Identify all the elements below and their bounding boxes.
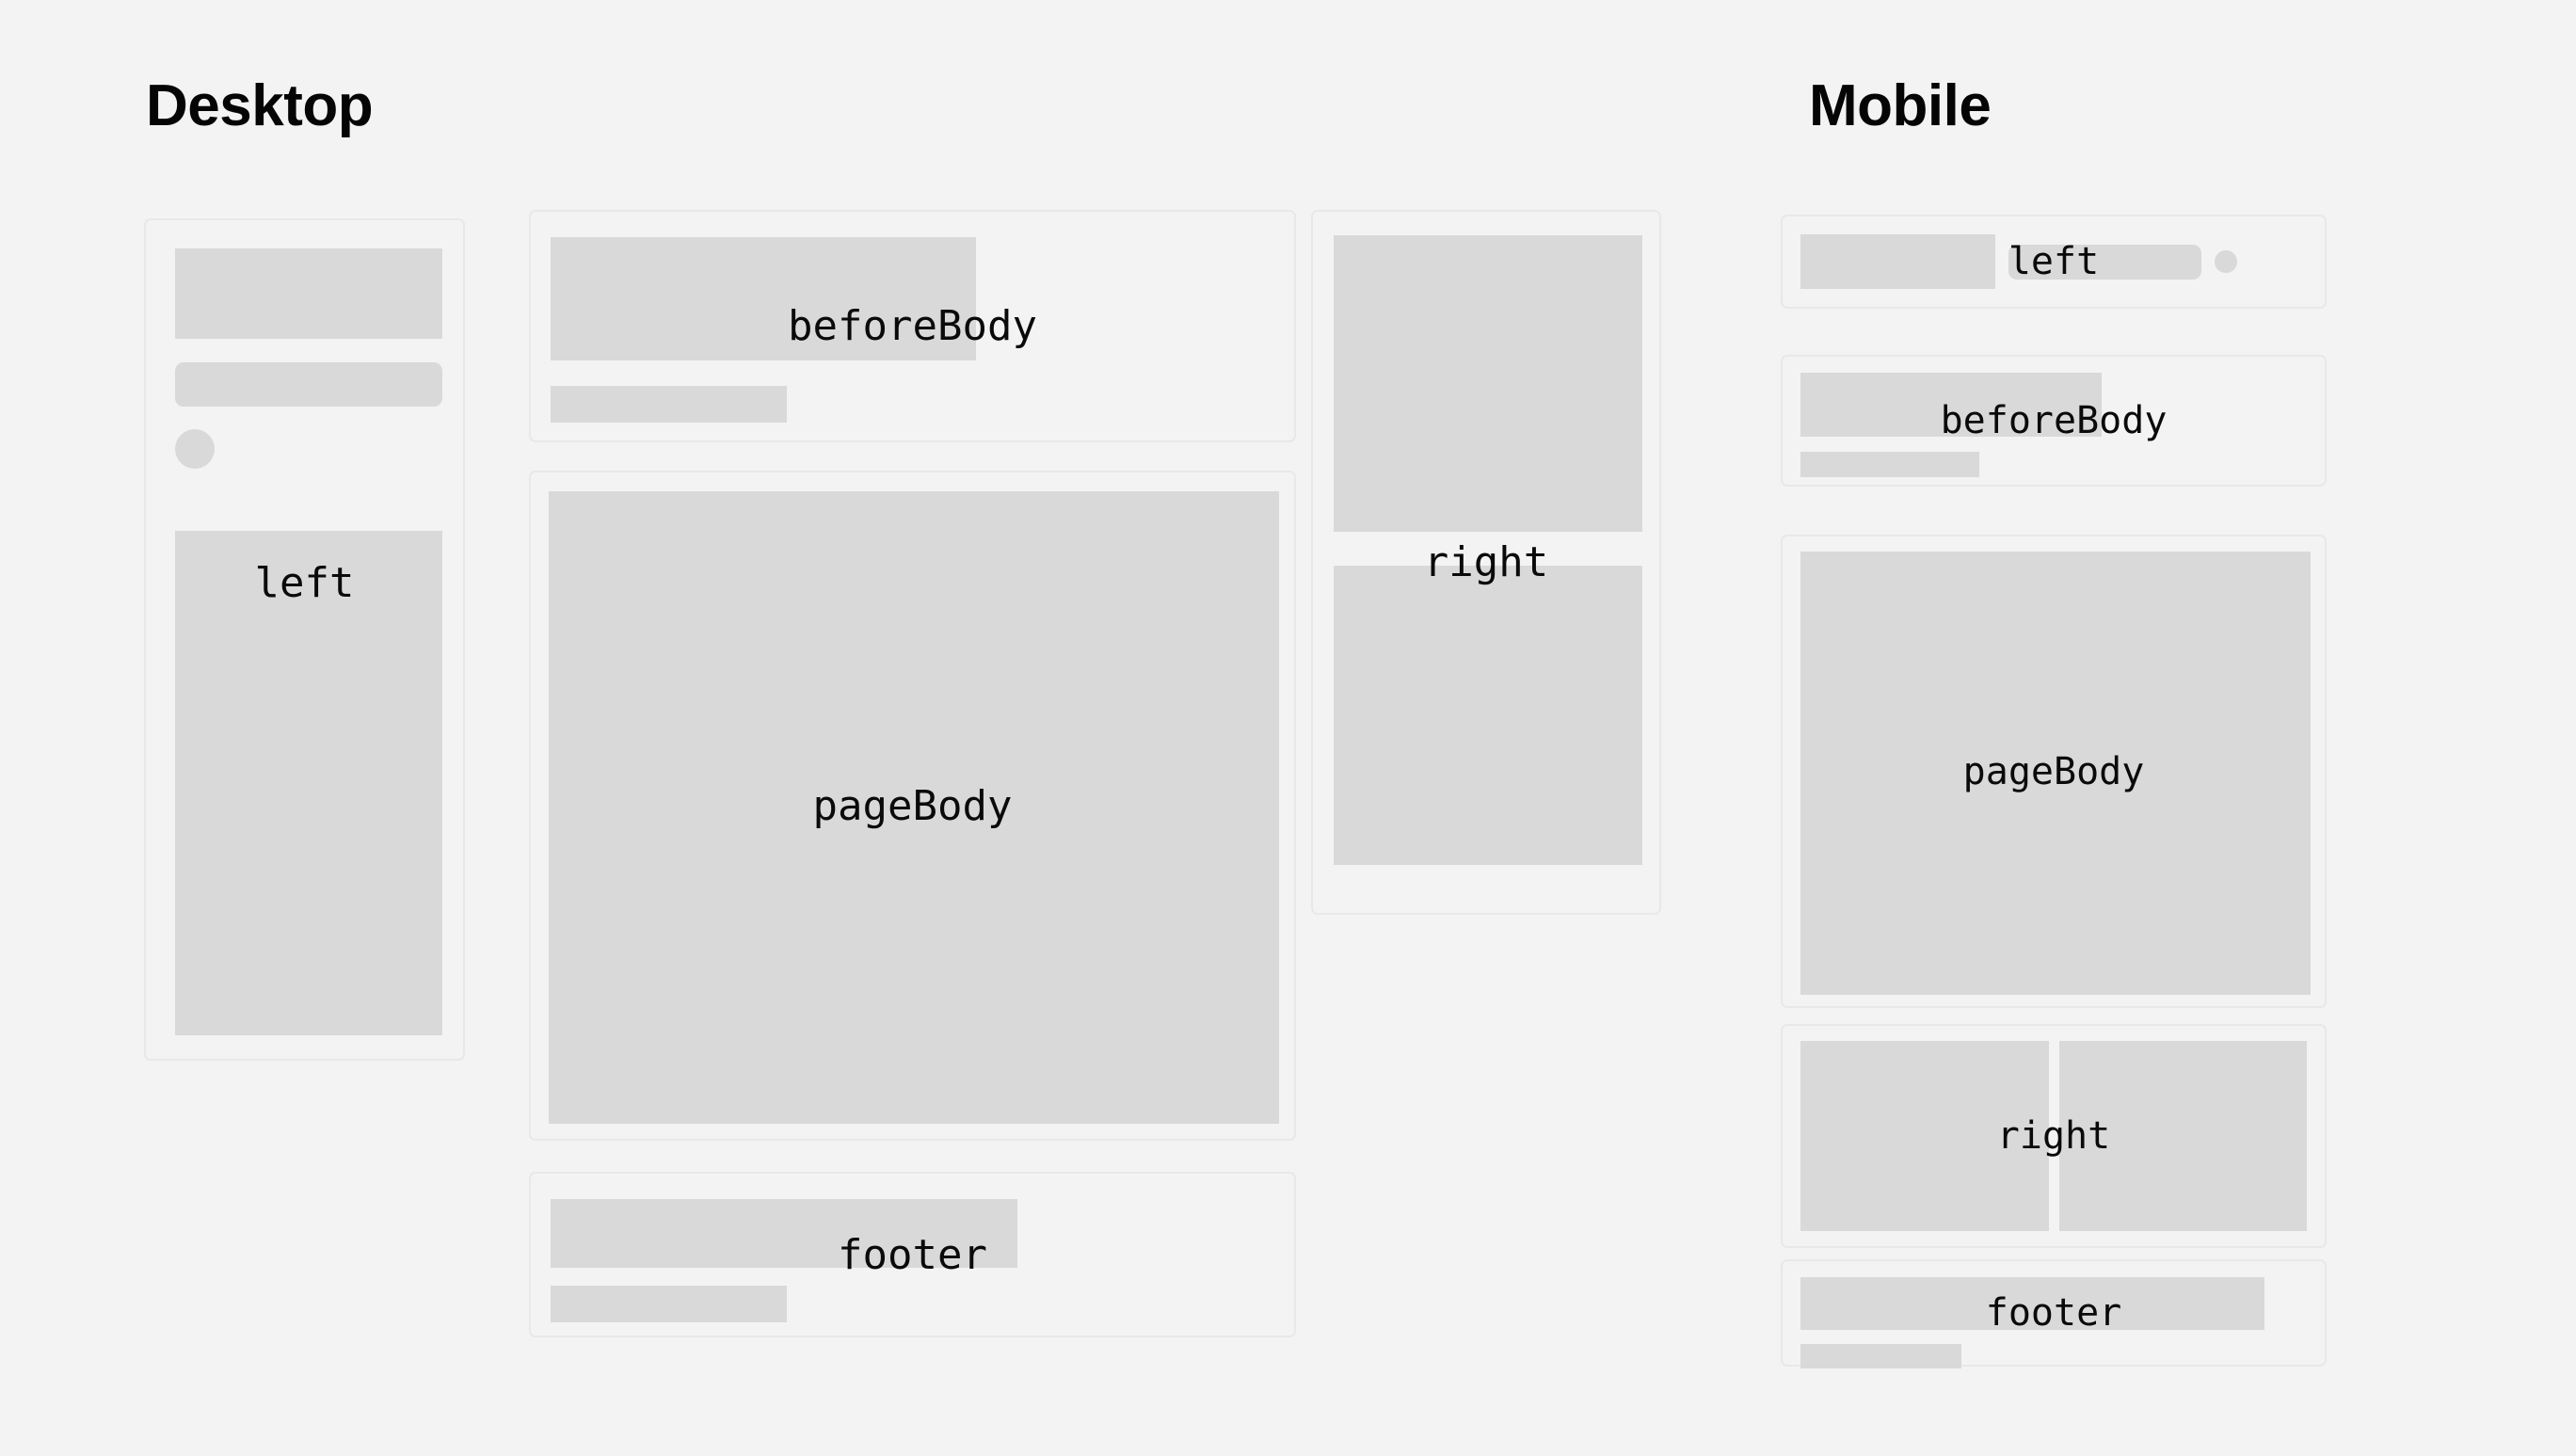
placeholder-block [1334,235,1642,532]
placeholder-block [1800,373,2102,437]
placeholder-circle [2215,250,2237,273]
wireframe-page: Desktop left beforeBody pageBody right f… [0,0,2576,1456]
desktop-region-right[interactable]: right [1311,210,1661,915]
placeholder-block [2059,1041,2308,1231]
placeholder-bar [1800,452,1979,477]
desktop-region-left[interactable]: left [144,218,465,1061]
placeholder-block [175,248,442,339]
mobile-left-row [1800,234,2307,289]
placeholder-block [551,237,976,360]
placeholder-circle [175,429,215,469]
placeholder-block [1334,566,1642,865]
desktop-region-beforebody[interactable]: beforeBody [529,210,1296,442]
placeholder-bar [175,362,442,407]
desktop-region-footer[interactable]: footer [529,1172,1296,1337]
mobile-heading: Mobile [1809,77,1991,136]
placeholder-block [549,491,1279,1124]
placeholder-bar [1800,1344,1961,1368]
mobile-region-left[interactable]: left [1781,215,2327,309]
placeholder-bar [551,1286,787,1322]
placeholder-bar [551,386,787,423]
placeholder-block [1800,1041,2049,1231]
placeholder-block [175,531,442,1035]
mobile-region-right[interactable]: right [1781,1024,2327,1248]
mobile-region-beforebody[interactable]: beforeBody [1781,355,2327,487]
placeholder-block [1800,1277,2264,1330]
desktop-region-pagebody[interactable]: pageBody [529,471,1296,1141]
placeholder-block [1800,234,1995,289]
desktop-heading: Desktop [146,77,373,136]
placeholder-bar [2008,245,2201,280]
placeholder-block [551,1199,1017,1268]
mobile-region-footer[interactable]: footer [1781,1259,2327,1367]
placeholder-block [1800,552,2311,995]
mobile-region-pagebody[interactable]: pageBody [1781,535,2327,1008]
mobile-right-row [1800,1041,2307,1231]
